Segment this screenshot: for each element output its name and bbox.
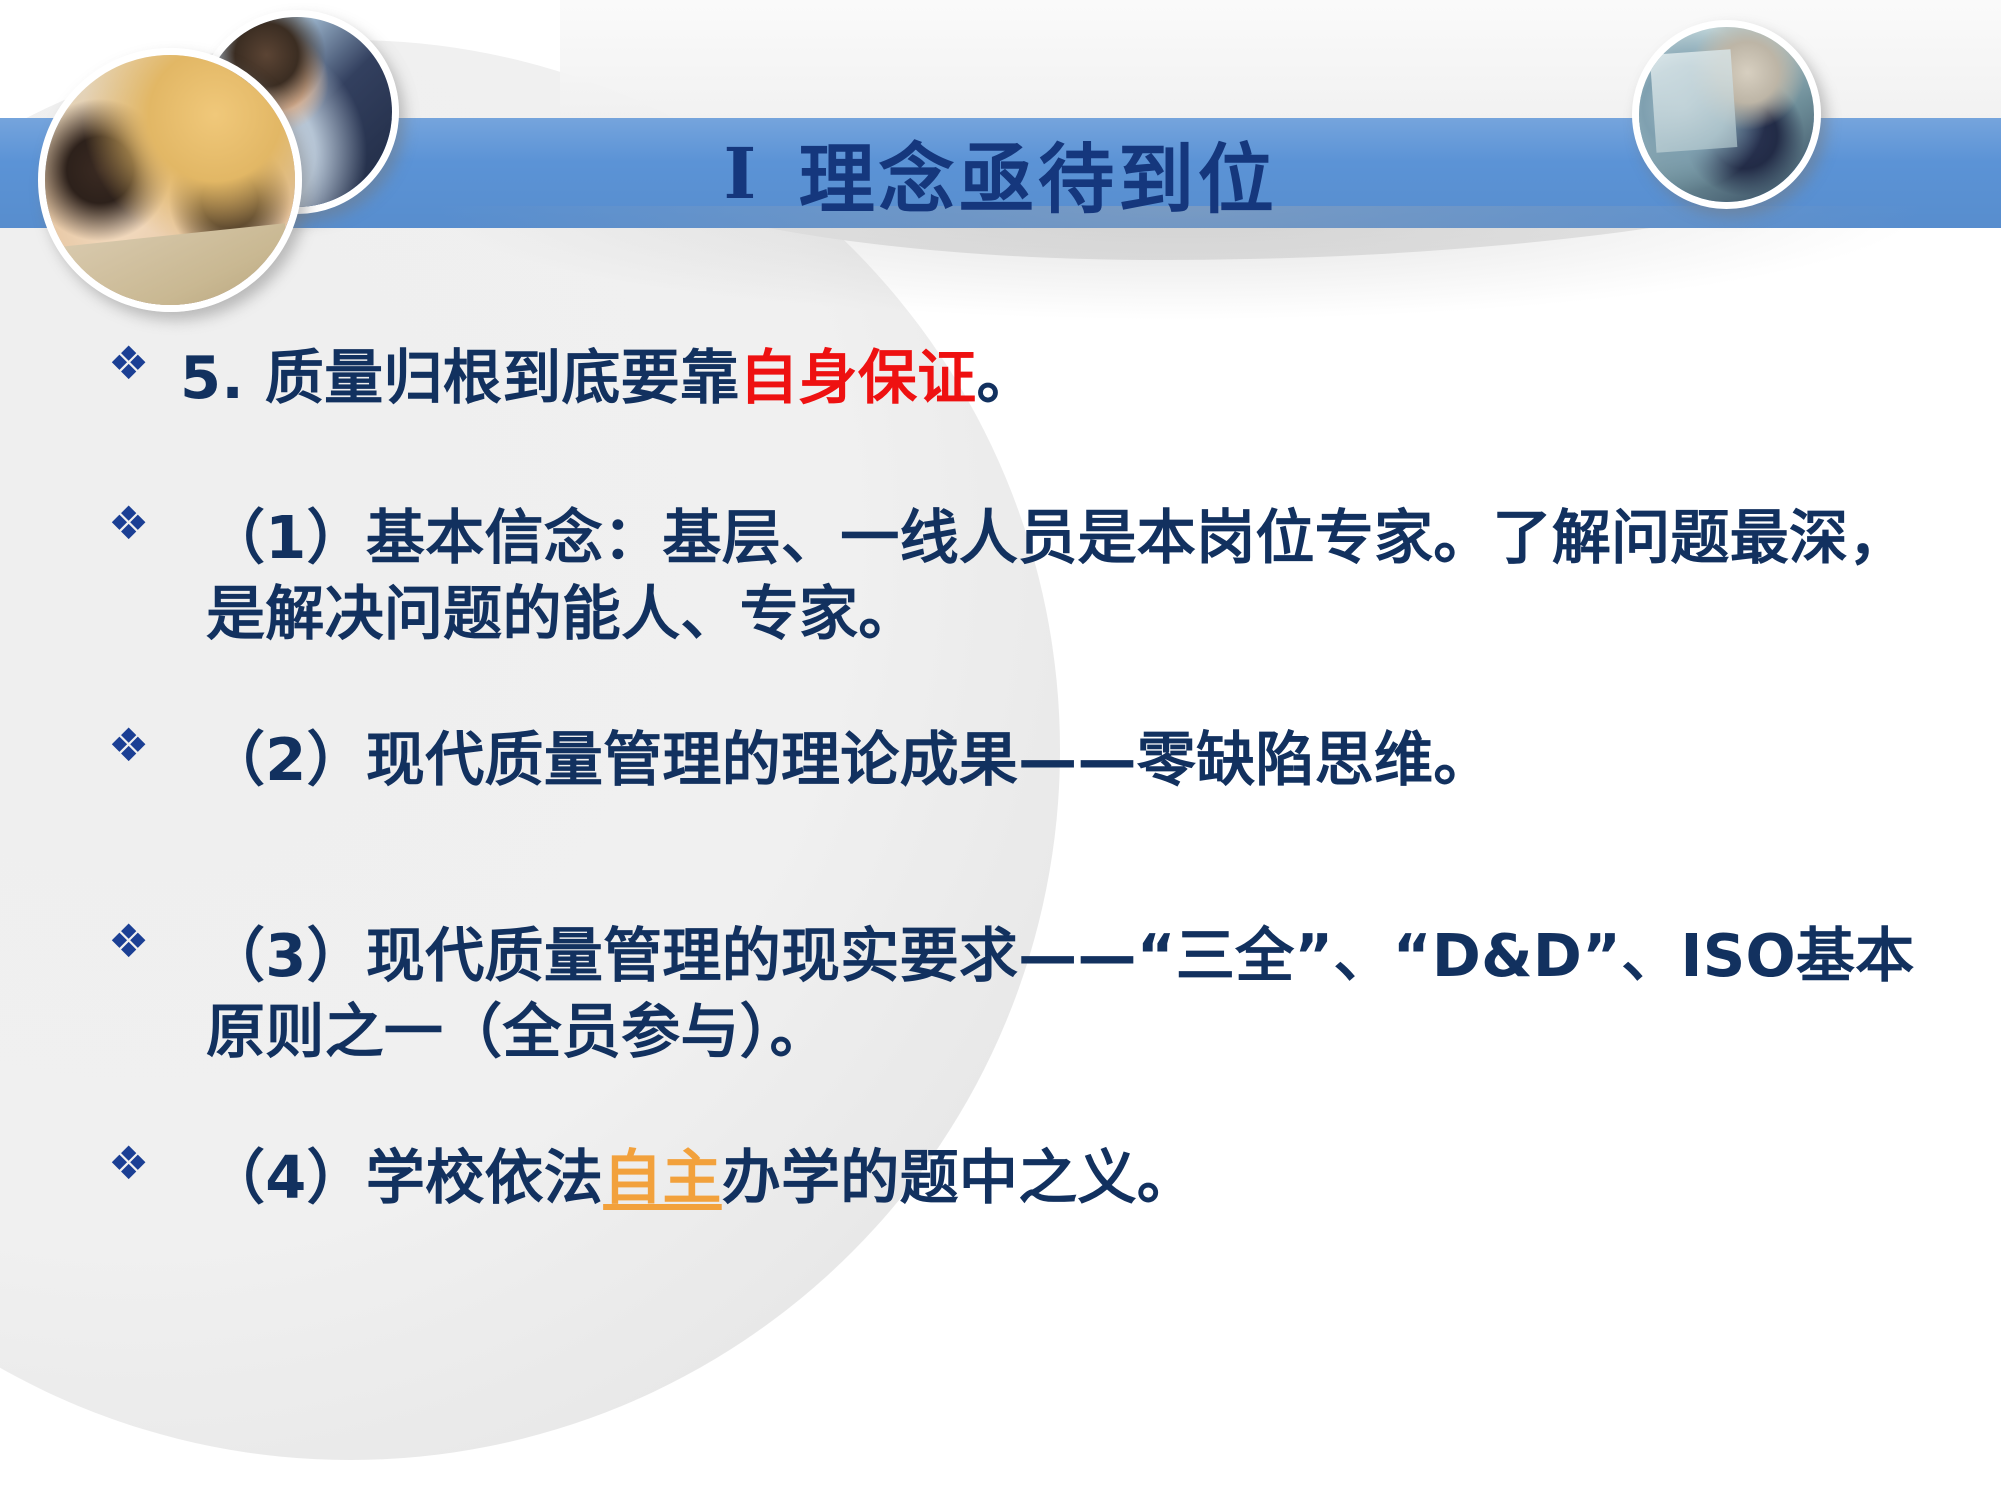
two-colleagues-at-laptop-photo <box>38 48 302 312</box>
list-item: ❖ （3）现代质量管理的现实要求——“三全”、“D&D”、ISO基本原则之一（全… <box>108 918 1938 1069</box>
list-item-text: （1）基本信念：基层、一线人员是本岗位专家。了解问题最深，是解决问题的能人、专家… <box>206 500 1938 651</box>
list-item-text: 5. 质量归根到底要靠自身保证。 <box>180 340 1036 416</box>
list-item-text: （3）现代质量管理的现实要求——“三全”、“D&D”、ISO基本原则之一（全员参… <box>206 918 1938 1069</box>
list-item: ❖ （2）现代质量管理的理论成果——零缺陷思维。 <box>108 722 1493 798</box>
list-item-text: （2）现代质量管理的理论成果——零缺陷思维。 <box>206 722 1493 798</box>
list-item: ❖ 5. 质量归根到底要靠自身保证。 <box>108 340 1036 416</box>
list-item-segment: 办学的题中之义。 <box>722 1143 1196 1212</box>
list-item-segment: 。 <box>976 343 1035 412</box>
diamond-bullet-icon: ❖ <box>108 722 206 768</box>
page-title-numeral: I <box>723 132 760 215</box>
slide-canvas: I 理念亟待到位 ❖ 5. 质量归根到底要靠自身保证。 ❖ （1）基本信念：基层… <box>0 0 2001 1501</box>
diamond-bullet-icon: ❖ <box>108 918 206 964</box>
list-item-segment: （4）学校依法 <box>206 1143 603 1212</box>
page-title-text: 理念亟待到位 <box>799 118 1278 228</box>
diamond-bullet-icon: ❖ <box>108 340 180 386</box>
list-item: ❖ （1）基本信念：基层、一线人员是本岗位专家。了解问题最深，是解决问题的能人、… <box>108 500 1938 651</box>
list-item-segment: 5. 质量归根到底要靠 <box>180 343 739 412</box>
list-item-text: （4）学校依法自主办学的题中之义。 <box>206 1140 1196 1216</box>
presenter-at-flipchart-photo <box>1632 20 1821 209</box>
list-item-segment-highlight-orange: 自主 <box>603 1143 722 1212</box>
list-item-segment-highlight-red: 自身保证 <box>739 343 976 412</box>
diamond-bullet-icon: ❖ <box>108 1140 206 1186</box>
list-item: ❖ （4）学校依法自主办学的题中之义。 <box>108 1140 1196 1216</box>
diamond-bullet-icon: ❖ <box>108 500 206 546</box>
